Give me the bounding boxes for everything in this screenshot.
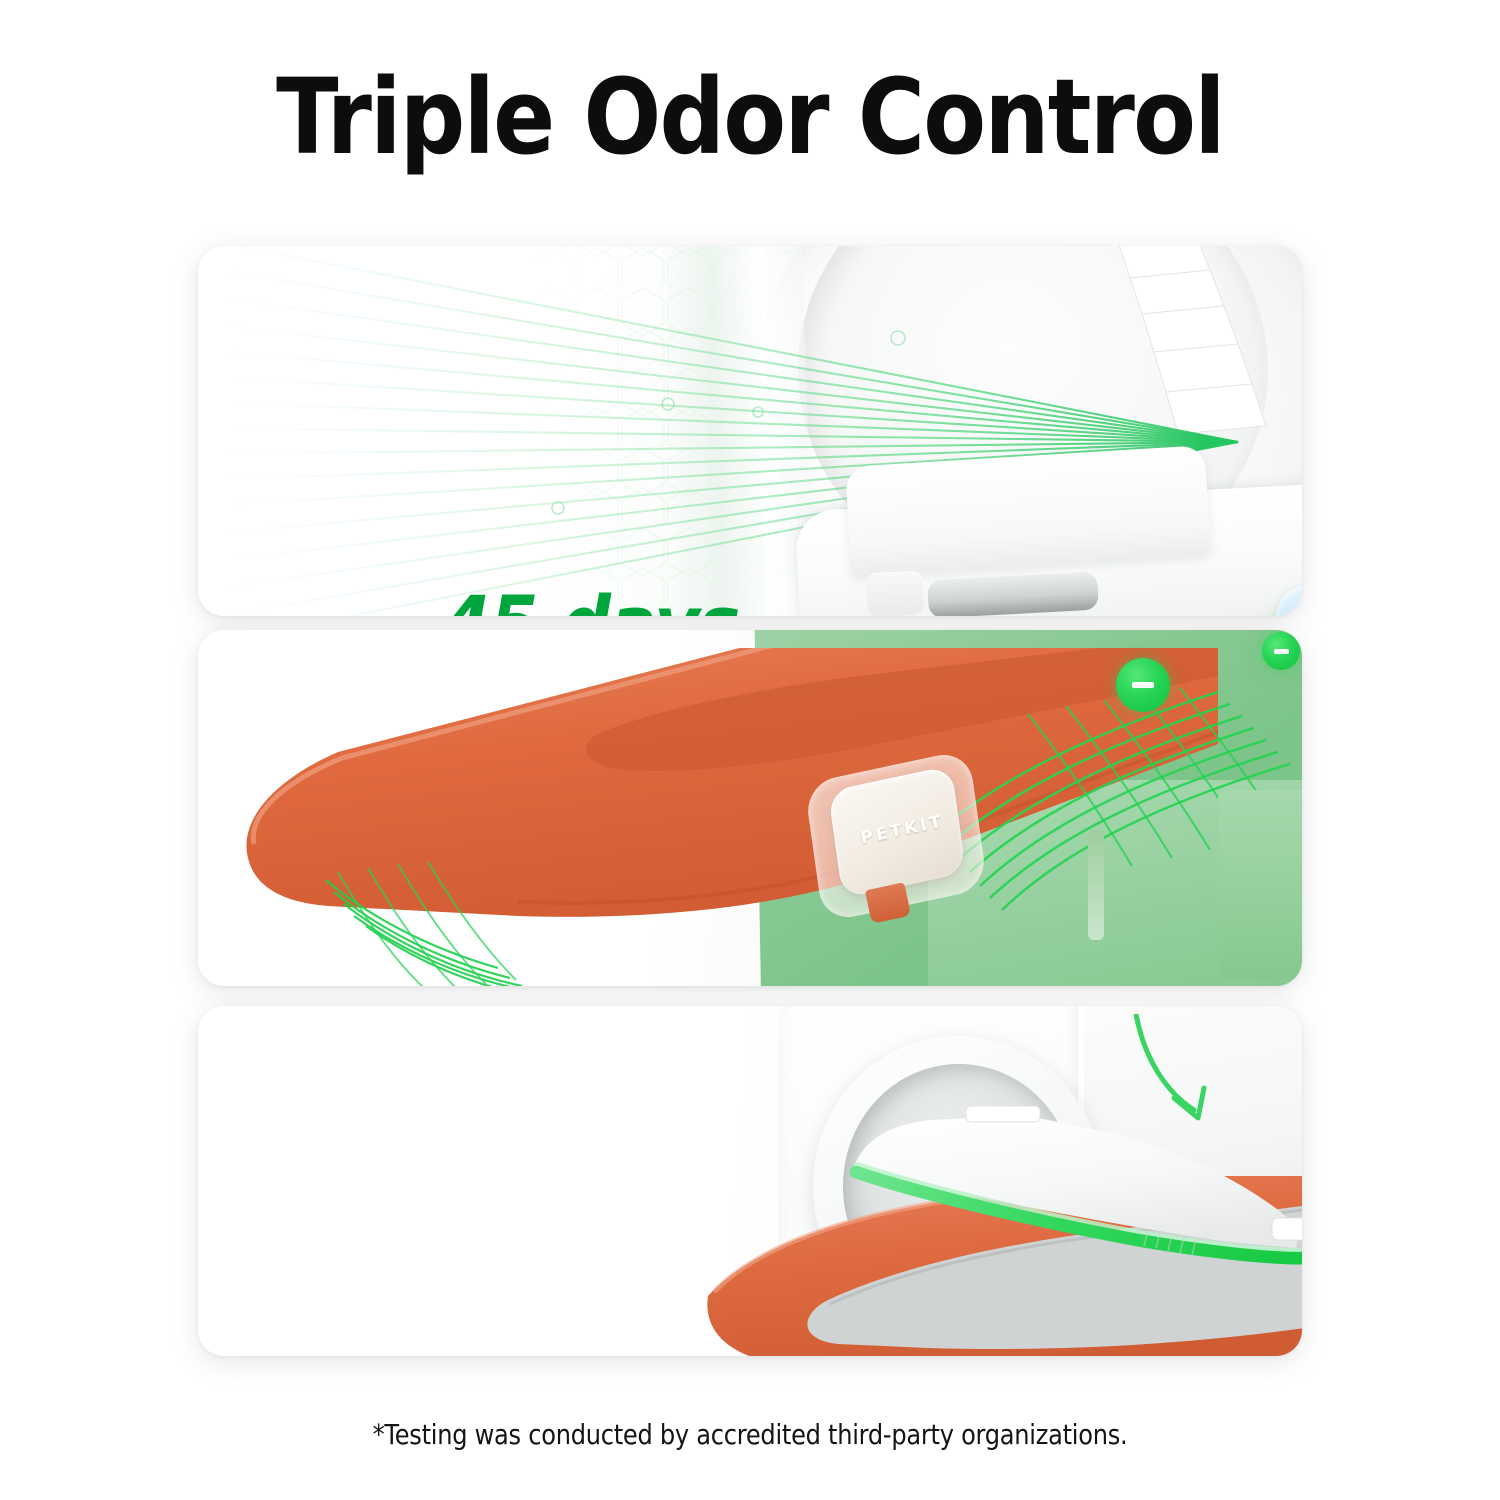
card-3-artwork xyxy=(198,1006,1302,1356)
page-title: Triple Odor Control xyxy=(90,62,1410,172)
feature-card-deodorization: PETKIT 45 days cylinder deodorizat xyxy=(198,246,1302,616)
infographic-page: Triple Odor Control xyxy=(0,0,1500,1500)
card-2-artwork: PETKIT xyxy=(198,630,1302,986)
negative-ion-badge xyxy=(1116,658,1170,712)
footnote-text: *Testing was conducted by accredited thi… xyxy=(105,1418,1395,1451)
feature-card-sealed-bin: Odor-trapping sealed waste bin xyxy=(198,1006,1302,1356)
card-1-artwork: PETKIT xyxy=(198,246,1302,616)
negative-ion-badge xyxy=(1262,632,1300,670)
unit-front-panel xyxy=(845,445,1211,577)
feature-card-ammonia: PETKIT 98%* ammonia neutralization for w… xyxy=(198,630,1302,986)
negative-ion-badges xyxy=(198,630,1302,986)
card-1-stat: 45 days xyxy=(442,584,739,616)
unit-slot xyxy=(927,572,1099,616)
unit-button xyxy=(865,571,925,616)
deodorizer-cube: PETKIT xyxy=(1240,582,1302,616)
downward-arrow-icon xyxy=(1128,1014,1278,1144)
